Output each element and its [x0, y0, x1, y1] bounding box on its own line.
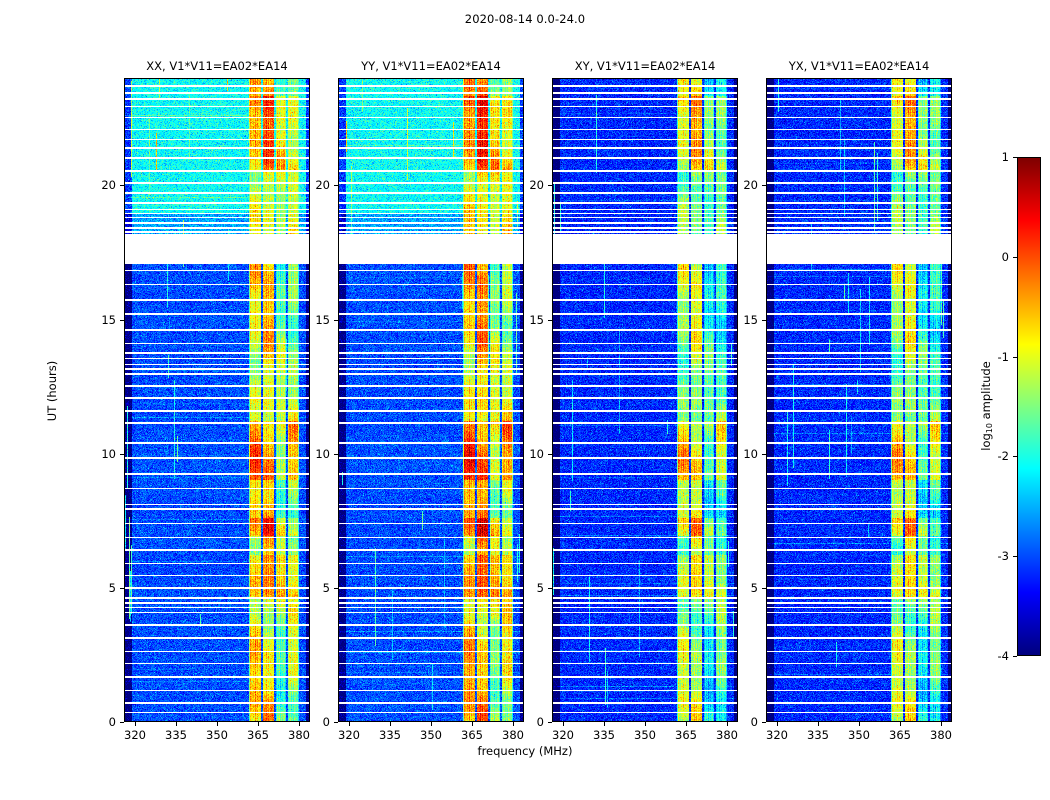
x-tick-mark — [645, 722, 646, 726]
x-tick-mark — [859, 722, 860, 726]
y-tick-label: 15 — [94, 313, 116, 327]
colorbar-tick-mark — [1013, 357, 1017, 358]
y-tick-label: 20 — [94, 178, 116, 192]
y-tick-label: 20 — [308, 178, 330, 192]
x-tick-label: 365 — [669, 728, 703, 742]
x-tick-mark — [390, 722, 391, 726]
x-tick-mark — [818, 722, 819, 726]
x-tick-label: 335 — [373, 728, 407, 742]
y-tick-label: 0 — [308, 715, 330, 729]
colorbar-tick-mark — [1013, 656, 1017, 657]
colorbar-tick-mark — [1013, 257, 1017, 258]
panel-title-yy: YY, V1*V11=EA02*EA14 — [338, 59, 524, 73]
y-tick-mark — [334, 320, 338, 321]
x-tick-label: 380 — [710, 728, 744, 742]
y-tick-mark — [120, 588, 124, 589]
x-tick-mark — [941, 722, 942, 726]
y-tick-mark — [334, 454, 338, 455]
x-tick-label: 380 — [282, 728, 316, 742]
colorbar-tick-mark — [1013, 157, 1017, 158]
x-tick-label: 320 — [546, 728, 580, 742]
x-tick-mark — [727, 722, 728, 726]
panel-title-xy: XY, V1*V11=EA02*EA14 — [552, 59, 738, 73]
panel-title-yx: YX, V1*V11=EA02*EA14 — [766, 59, 952, 73]
y-tick-label: 0 — [522, 715, 544, 729]
figure-suptitle: 2020-08-14 0.0-24.0 — [0, 12, 1050, 26]
x-tick-mark — [513, 722, 514, 726]
x-tick-mark — [135, 722, 136, 726]
x-tick-label: 335 — [801, 728, 835, 742]
x-tick-mark — [176, 722, 177, 726]
x-tick-mark — [563, 722, 564, 726]
x-tick-label: 335 — [159, 728, 193, 742]
colorbar — [1017, 157, 1041, 656]
y-tick-mark — [548, 454, 552, 455]
x-tick-mark — [431, 722, 432, 726]
y-tick-label: 0 — [94, 715, 116, 729]
colorbar-tick-label: -4 — [989, 649, 1009, 663]
figure-canvas: 2020-08-14 0.0-24.0 XX, V1*V11=EA02*EA14… — [0, 0, 1050, 800]
x-tick-label: 365 — [241, 728, 275, 742]
x-tick-mark — [900, 722, 901, 726]
y-tick-mark — [548, 722, 552, 723]
y-tick-mark — [548, 320, 552, 321]
x-tick-label: 335 — [587, 728, 621, 742]
y-tick-mark — [762, 722, 766, 723]
x-tick-label: 350 — [414, 728, 448, 742]
y-tick-mark — [334, 588, 338, 589]
waterfall-image-xx — [125, 79, 309, 721]
x-tick-label: 350 — [200, 728, 234, 742]
x-tick-mark — [777, 722, 778, 726]
y-tick-mark — [762, 454, 766, 455]
y-tick-label: 10 — [522, 447, 544, 461]
y-axis-label: UT (hours) — [45, 311, 59, 471]
y-tick-label: 5 — [522, 581, 544, 595]
colorbar-gradient — [1018, 158, 1040, 655]
waterfall-image-xy — [553, 79, 737, 721]
y-tick-mark — [762, 320, 766, 321]
y-tick-label: 5 — [94, 581, 116, 595]
y-tick-label: 15 — [308, 313, 330, 327]
x-tick-mark — [349, 722, 350, 726]
x-tick-mark — [299, 722, 300, 726]
x-axis-label: frequency (MHz) — [0, 744, 1050, 758]
x-tick-label: 380 — [496, 728, 530, 742]
y-tick-mark — [548, 588, 552, 589]
x-tick-mark — [217, 722, 218, 726]
y-tick-label: 15 — [522, 313, 544, 327]
y-tick-label: 15 — [736, 313, 758, 327]
y-tick-mark — [120, 185, 124, 186]
y-tick-label: 20 — [522, 178, 544, 192]
y-tick-label: 0 — [736, 715, 758, 729]
y-tick-mark — [334, 185, 338, 186]
y-tick-mark — [548, 185, 552, 186]
colorbar-tick-mark — [1013, 556, 1017, 557]
x-tick-mark — [686, 722, 687, 726]
x-tick-mark — [604, 722, 605, 726]
y-tick-mark — [120, 320, 124, 321]
y-tick-label: 5 — [736, 581, 758, 595]
y-tick-mark — [120, 454, 124, 455]
colorbar-tick-label: -3 — [989, 549, 1009, 563]
waterfall-image-yx — [767, 79, 951, 721]
colorbar-label-subscript: 10 — [985, 423, 994, 433]
y-tick-label: 10 — [308, 447, 330, 461]
waterfall-panel-yy — [338, 78, 524, 722]
panel-title-xx: XX, V1*V11=EA02*EA14 — [124, 59, 310, 73]
x-tick-label: 320 — [332, 728, 366, 742]
x-tick-label: 350 — [628, 728, 662, 742]
waterfall-panel-xy — [552, 78, 738, 722]
x-tick-label: 320 — [760, 728, 794, 742]
x-tick-mark — [472, 722, 473, 726]
x-tick-mark — [258, 722, 259, 726]
waterfall-image-yy — [339, 79, 523, 721]
x-tick-label: 320 — [118, 728, 152, 742]
colorbar-tick-label: -2 — [989, 449, 1009, 463]
waterfall-panel-yx — [766, 78, 952, 722]
y-tick-mark — [762, 185, 766, 186]
colorbar-tick-mark — [1013, 456, 1017, 457]
waterfall-panel-xx — [124, 78, 310, 722]
colorbar-tick-label: 0 — [989, 250, 1009, 264]
y-tick-label: 5 — [308, 581, 330, 595]
y-tick-mark — [762, 588, 766, 589]
colorbar-tick-label: -1 — [989, 350, 1009, 364]
y-tick-label: 10 — [94, 447, 116, 461]
y-tick-label: 20 — [736, 178, 758, 192]
x-tick-label: 350 — [842, 728, 876, 742]
x-tick-label: 365 — [883, 728, 917, 742]
x-tick-label: 365 — [455, 728, 489, 742]
colorbar-label-main: amplitude — [979, 361, 993, 419]
y-tick-label: 10 — [736, 447, 758, 461]
colorbar-tick-label: 1 — [989, 150, 1009, 164]
y-tick-mark — [334, 722, 338, 723]
x-tick-label: 380 — [924, 728, 958, 742]
y-tick-mark — [120, 722, 124, 723]
